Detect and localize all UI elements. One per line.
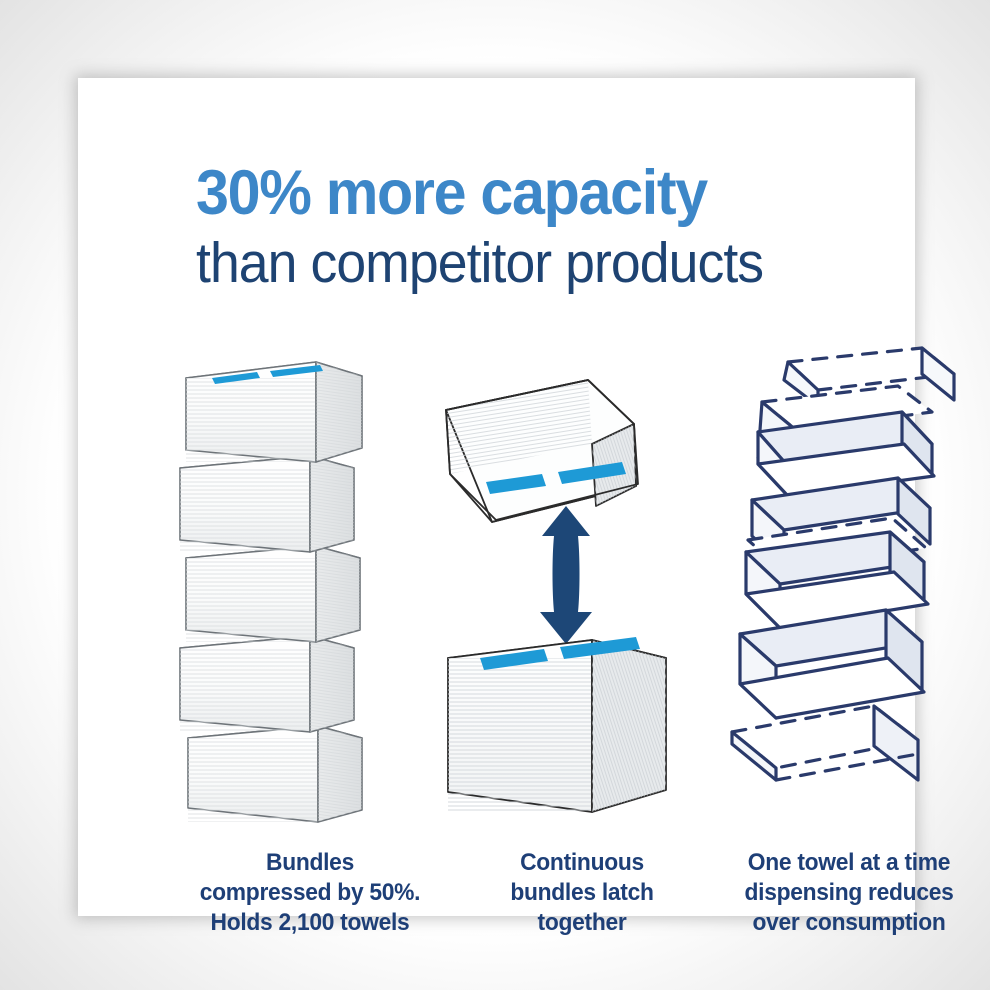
caption-row: Bundles compressed by 50%. Holds 2,100 t… xyxy=(156,848,990,958)
caption-one-towel-dispensing: One towel at a time dispensing reduces o… xyxy=(711,848,987,938)
bundle-1-top xyxy=(186,362,362,462)
bundle-2 xyxy=(180,456,354,552)
lower-bundle xyxy=(448,637,666,812)
double-headed-arrow xyxy=(540,506,592,644)
caption-2-line-2: bundles latch xyxy=(472,878,692,908)
caption-2-line-3: together xyxy=(472,908,692,938)
headline-line-2: than competitor products xyxy=(196,232,910,294)
headline-line-1: 30% more capacity xyxy=(196,160,910,226)
caption-stacked-bundles: Bundles compressed by 50%. Holds 2,100 t… xyxy=(168,848,453,938)
fold-edge-bottom-right xyxy=(874,706,918,780)
headline-block: 30% more capacity than competitor produc… xyxy=(196,160,956,294)
caption-latching-bundles: Continuous bundles latch together xyxy=(472,848,692,938)
image-frame: 30% more capacity than competitor produc… xyxy=(0,0,990,990)
upper-bundle xyxy=(446,380,638,522)
caption-1-line-3: Holds 2,100 towels xyxy=(168,908,453,938)
caption-3-line-1: One towel at a time xyxy=(711,848,987,878)
illustration-row xyxy=(166,340,986,840)
fold-edge-top-right xyxy=(922,348,954,400)
bundle-4 xyxy=(180,636,354,732)
bundle-3 xyxy=(186,546,360,642)
content-panel: 30% more capacity than competitor produc… xyxy=(78,78,915,916)
caption-1-line-1: Bundles xyxy=(168,848,453,878)
caption-3-line-3: over consumption xyxy=(711,908,987,938)
caption-1-line-2: compressed by 50%. xyxy=(168,878,453,908)
caption-3-line-2: dispensing reduces xyxy=(711,878,987,908)
stacked-bundles-illustration xyxy=(166,340,434,840)
accordion-fold-illustration xyxy=(722,340,986,840)
caption-2-line-1: Continuous xyxy=(472,848,692,878)
latching-bundles-illustration xyxy=(438,340,710,840)
bundle-5-bottom xyxy=(188,726,362,822)
